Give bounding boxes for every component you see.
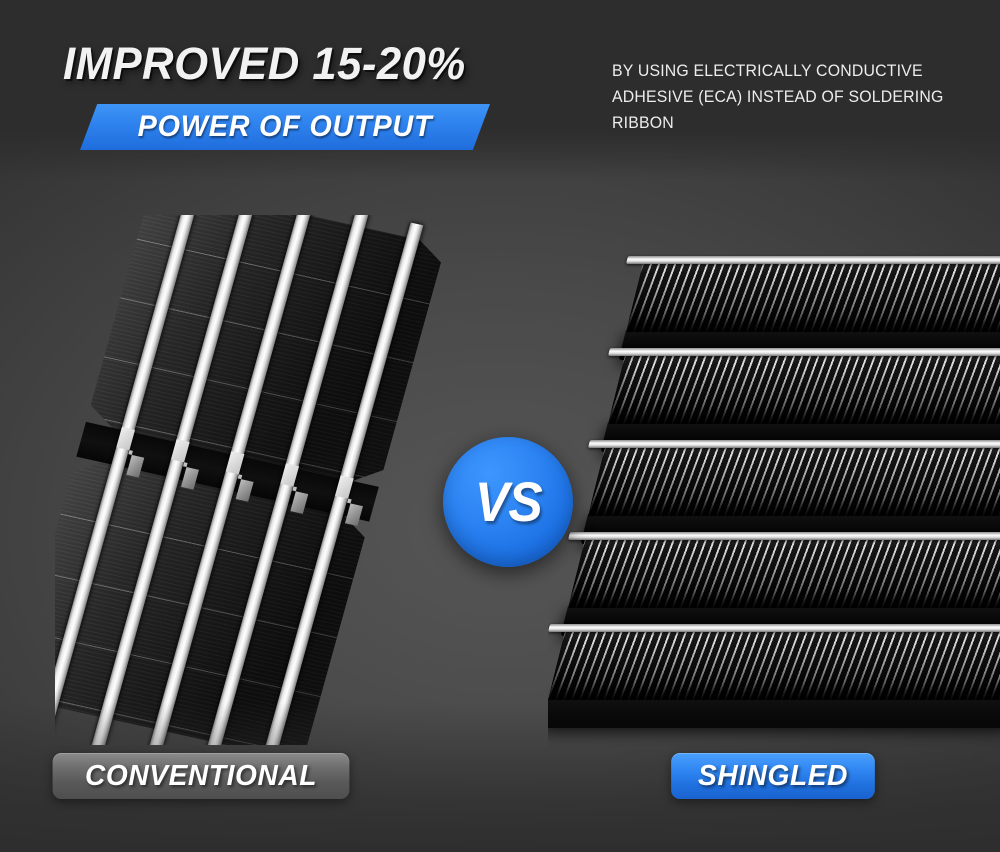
strip-highlight-edge [568,532,1000,540]
shingled-strip [608,348,1000,452]
strip-finger-surface [548,624,1000,700]
versus-label: VS [475,474,542,530]
headline-banner: POWER OF OUTPUT [80,104,490,150]
page-title: IMPROVED 15-20% [63,40,567,87]
strip-finger-surface [608,348,1000,424]
strip-highlight-edge [548,624,1000,632]
shingled-strip [568,532,1000,636]
strip-edge-face [548,698,1000,728]
strip-finger-surface [588,440,1000,516]
strip-finger-surface [568,532,1000,608]
conventional-panel-image [55,215,455,745]
strip-highlight-edge [608,348,1000,356]
infographic-poster: IMPROVED 15-20% POWER OF OUTPUT BY USING… [0,0,1000,852]
conventional-panel-rotation [55,215,455,745]
strip-finger-surface [626,256,1000,332]
header-description: BY USING ELECTRICALLY CONDUCTIVE ADHESIV… [612,58,967,136]
shingled-panel-image [548,248,1000,748]
conventional-label-pill: CONVENTIONAL [53,753,350,799]
strip-highlight-edge [626,256,1000,264]
strip-highlight-edge [588,440,1000,448]
shingled-strip [588,440,1000,544]
shingled-strip [626,256,1000,360]
headline-banner-label: POWER OF OUTPUT [88,104,482,150]
versus-badge: VS [443,437,573,567]
shingled-strip [548,624,1000,728]
shingled-label-pill: SHINGLED [671,753,875,799]
